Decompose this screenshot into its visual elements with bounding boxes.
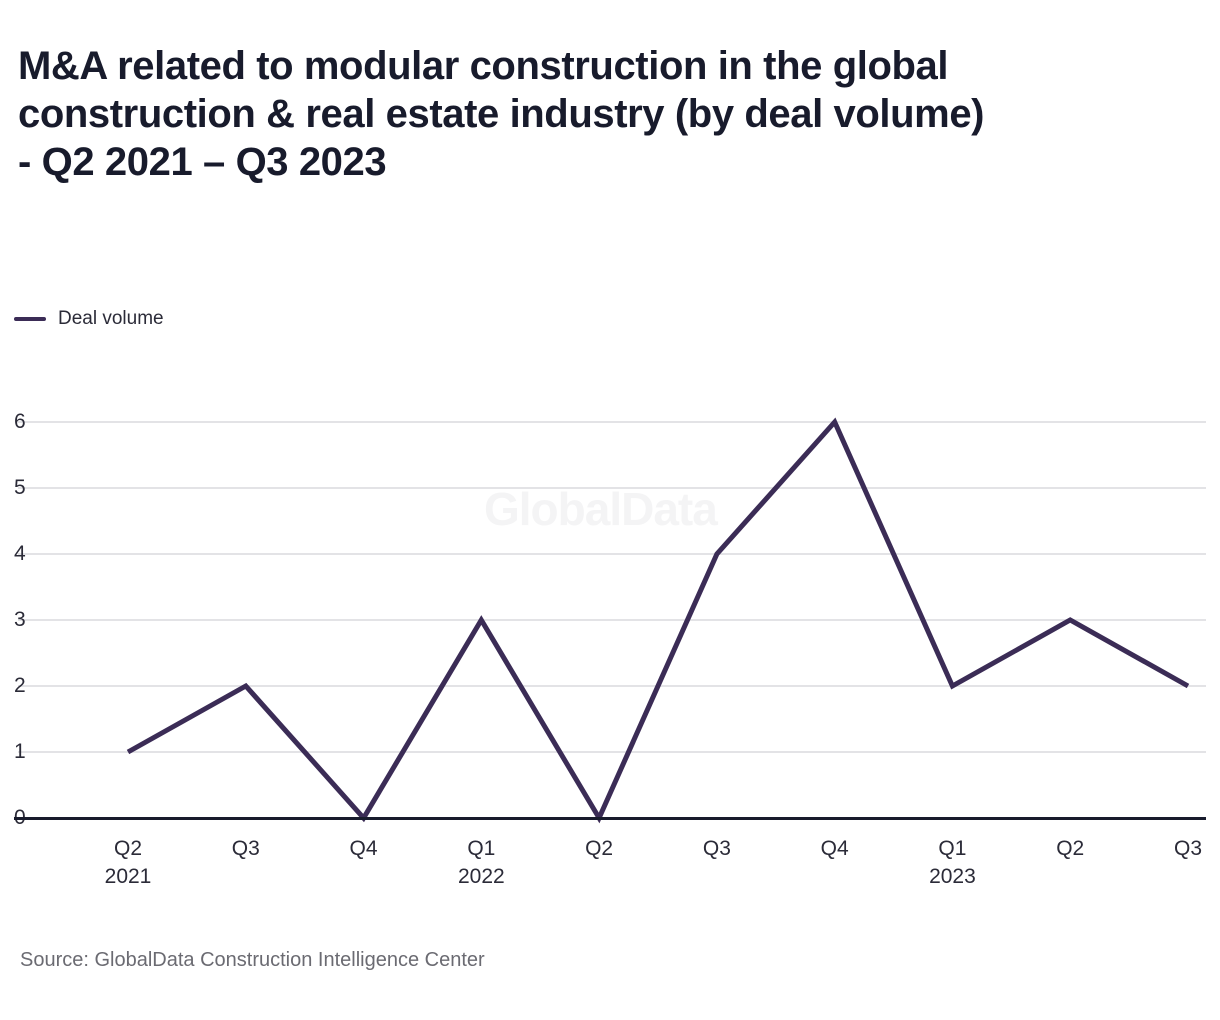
source-note: Source: GlobalData Construction Intellig… [20,948,485,972]
x-axis-baseline [14,817,1206,820]
x-tick-q4-2022: Q4 [821,836,849,862]
x-tick-quarter: Q3 [703,836,731,862]
x-tick-year: 2022 [458,862,505,892]
legend-line-swatch [14,317,46,321]
x-tick-q1-2023: Q12023 [929,836,976,892]
x-tick-quarter: Q3 [232,836,260,862]
x-tick-quarter: Q2 [105,836,152,862]
x-tick-q3-2021: Q3 [232,836,260,862]
x-tick-q3-2022: Q3 [703,836,731,862]
x-tick-q2-2022: Q2 [585,836,613,862]
x-tick-quarter: Q2 [1056,836,1084,862]
x-tick-quarter: Q3 [1174,836,1202,862]
x-tick-quarter: Q4 [821,836,849,862]
line-series-deal-volume [14,390,1206,830]
x-tick-q2-2023: Q2 [1056,836,1084,862]
x-tick-q1-2022: Q12022 [458,836,505,892]
x-tick-quarter: Q2 [585,836,613,862]
chart-legend: Deal volume [14,308,164,330]
x-axis-labels: Q22021Q3Q4Q12022Q2Q3Q4Q12023Q2Q3 [14,836,1206,906]
deal-volume-polyline [128,422,1188,818]
x-tick-quarter: Q4 [350,836,378,862]
plot-area: GlobalData 6543210 [14,390,1206,830]
x-tick-quarter: Q1 [929,836,976,862]
x-tick-q4-2021: Q4 [350,836,378,862]
chart-title: M&A related to modular construction in t… [18,42,1208,186]
x-tick-year: 2021 [105,862,152,892]
x-tick-year: 2023 [929,862,976,892]
x-tick-q3-2023: Q3 [1174,836,1202,862]
x-tick-q2-2021: Q22021 [105,836,152,892]
chart-page: M&A related to modular construction in t… [0,0,1220,1020]
legend-label-deal-volume: Deal volume [58,308,164,330]
x-tick-quarter: Q1 [458,836,505,862]
